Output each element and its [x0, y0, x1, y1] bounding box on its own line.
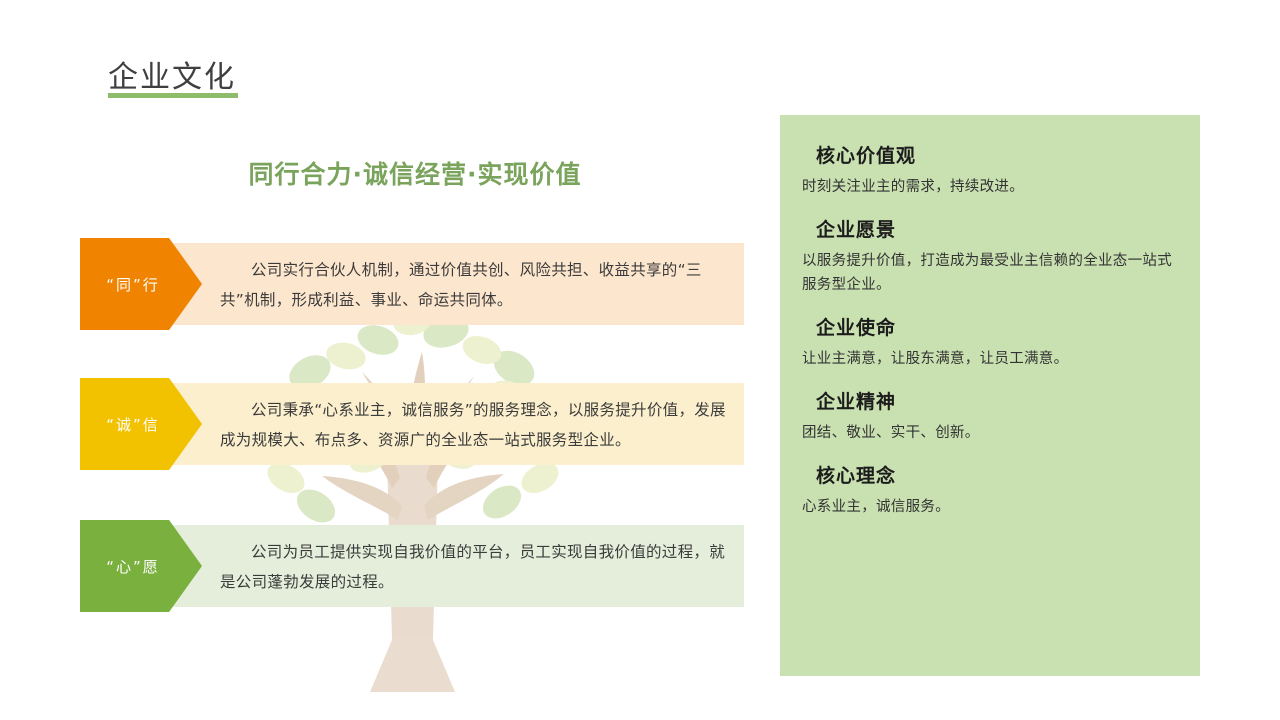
panel-block-philosophy: 核心理念 心系业主，诚信服务。 [802, 461, 1178, 519]
panel-heading: 企业使命 [816, 313, 1178, 340]
pillar-badge-cheng: “诚”信 [80, 378, 202, 470]
pillar-badge-tong: “同”行 [80, 238, 202, 330]
panel-heading: 核心价值观 [816, 141, 1178, 168]
panel-body: 让业主满意，让股东满意，让员工满意。 [802, 347, 1178, 371]
pillar-text-tong: 公司实行合伙人机制，通过价值共创、风险共担、收益共享的“三共”机制，形成利益、事… [220, 255, 735, 315]
slogan-text: 同行合力·诚信经营·实现价值 [80, 155, 750, 191]
pillar-row: “同”行 公司实行合伙人机制，通过价值共创、风险共担、收益共享的“三共”机制，形… [80, 243, 744, 325]
tree-illustration-icon [250, 310, 570, 700]
panel-heading: 企业愿景 [816, 215, 1178, 242]
panel-block-vision: 企业愿景 以服务提升价值，打造成为最受业主信赖的全业态一站式服务型企业。 [802, 215, 1178, 297]
panel-body: 团结、敬业、实干、创新。 [802, 421, 1178, 445]
page-title: 企业文化 [108, 52, 236, 96]
pillar-row: “心”愿 公司为员工提供实现自我价值的平台，员工实现自我价值的过程，就是公司蓬勃… [80, 525, 744, 607]
panel-block-mission: 企业使命 让业主满意，让股东满意，让员工满意。 [802, 313, 1178, 371]
panel-block-spirit: 企业精神 团结、敬业、实干、创新。 [802, 387, 1178, 445]
panel-heading: 企业精神 [816, 387, 1178, 414]
pillar-badge-xin: “心”愿 [80, 520, 202, 612]
panel-body: 以服务提升价值，打造成为最受业主信赖的全业态一站式服务型企业。 [802, 249, 1178, 297]
pillar-text-cheng: 公司秉承“心系业主，诚信服务”的服务理念，以服务提升价值，发展成为规模大、布点多… [220, 395, 735, 455]
pillar-text-xin: 公司为员工提供实现自我价值的平台，员工实现自我价值的过程，就是公司蓬勃发展的过程… [220, 537, 735, 597]
panel-body: 心系业主，诚信服务。 [802, 495, 1178, 519]
pillar-row: “诚”信 公司秉承“心系业主，诚信服务”的服务理念，以服务提升价值，发展成为规模… [80, 383, 744, 465]
panel-block-core-values: 核心价值观 时刻关注业主的需求，持续改进。 [802, 141, 1178, 199]
panel-body: 时刻关注业主的需求，持续改进。 [802, 175, 1178, 199]
title-underline [108, 93, 238, 98]
panel-heading: 核心理念 [816, 461, 1178, 488]
culture-panel: 核心价值观 时刻关注业主的需求，持续改进。 企业愿景 以服务提升价值，打造成为最… [780, 115, 1200, 676]
